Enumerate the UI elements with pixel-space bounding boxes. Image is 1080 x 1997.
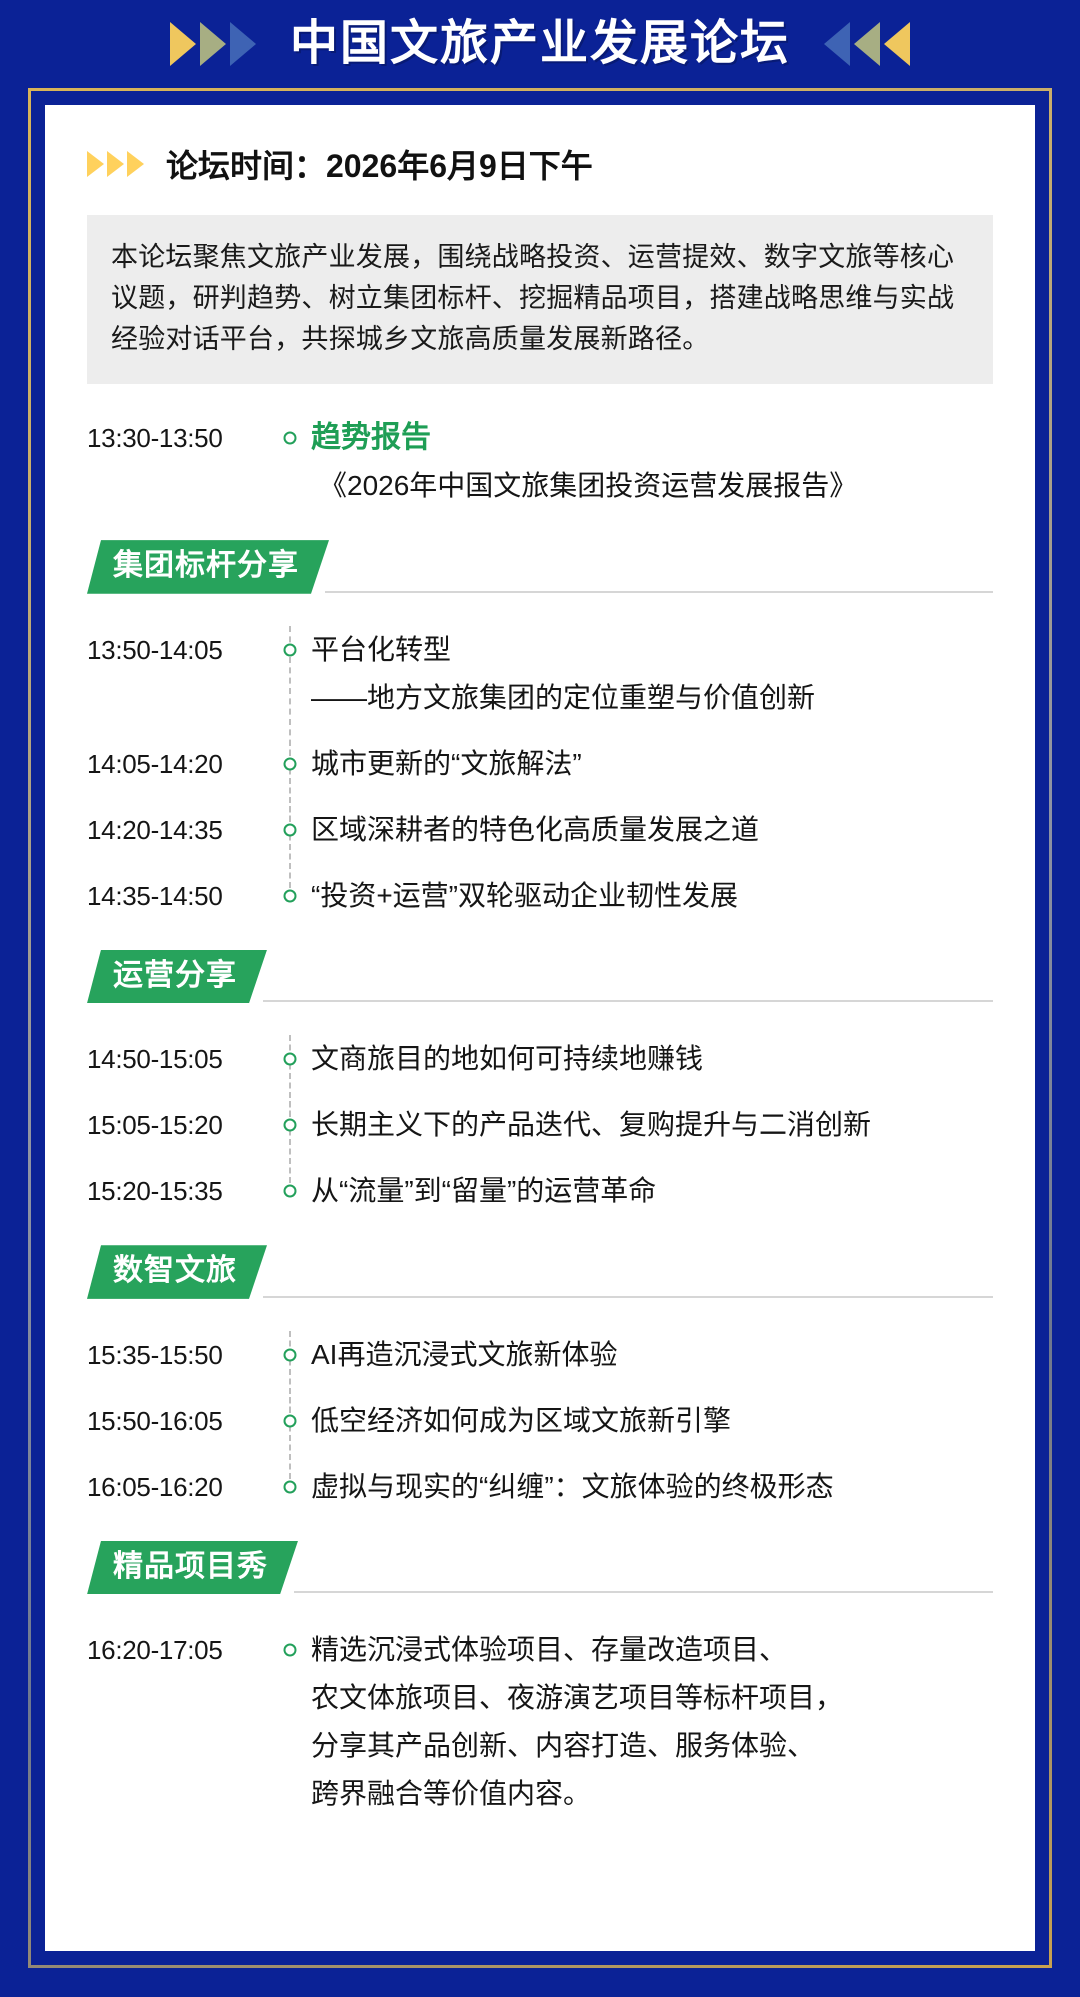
section-divider	[325, 591, 993, 593]
agenda-item-line: 平台化转型	[311, 626, 993, 674]
circle-marker-icon	[284, 1185, 297, 1198]
agenda-item-time: 15:05-15:20	[87, 1101, 273, 1149]
circle-marker-icon	[284, 1348, 297, 1361]
section-divider	[263, 1296, 993, 1298]
agenda-item-time: 14:20-14:35	[87, 806, 273, 854]
agenda-card: 论坛时间：2026年6月9日下午 本论坛聚焦文旅产业发展，围绕战略投资、运营提效…	[45, 105, 1035, 1951]
agenda-item-body: “投资+运营”双轮驱动企业韧性发展	[307, 872, 993, 920]
page-header: 中国文旅产业发展论坛	[0, 0, 1080, 88]
agenda-row: 15:20-15:35从“流量”到“留量”的运营革命	[87, 1167, 993, 1215]
triangle-left-icon	[824, 22, 850, 66]
triangle-right-icon	[127, 151, 144, 177]
circle-marker-icon	[284, 1119, 297, 1132]
agenda-item-time: 14:50-15:05	[87, 1035, 273, 1083]
spacer	[87, 722, 993, 740]
agenda-item-time: 16:05-16:20	[87, 1463, 273, 1511]
circle-marker-icon	[284, 643, 297, 656]
agenda-item-line: 跨界融合等价值内容。	[311, 1770, 993, 1818]
agenda-row: 14:50-15:05文商旅目的地如何可持续地赚钱	[87, 1035, 993, 1083]
timeline-marker	[273, 806, 307, 854]
agenda-item-line: 城市更新的“文旅解法”	[311, 740, 993, 788]
triangle-left-icon	[854, 22, 880, 66]
agenda-item-time: 14:35-14:50	[87, 872, 273, 920]
agenda-row: 14:35-14:50“投资+运营”双轮驱动企业韧性发展	[87, 872, 993, 920]
circle-marker-icon	[284, 1480, 297, 1493]
spacer	[87, 1149, 993, 1167]
triangle-right-icon	[170, 22, 196, 66]
triangle-left-icon	[884, 22, 910, 66]
agenda-item-line: ——地方文旅集团的定位重塑与价值创新	[311, 674, 993, 722]
circle-marker-icon	[284, 889, 297, 902]
agenda-row: 15:50-16:05低空经济如何成为区域文旅新引擎	[87, 1397, 993, 1445]
agenda-item-line: 农文体旅项目、夜游演艺项目等标杆项目，	[311, 1674, 993, 1722]
agenda-item-line: 虚拟与现实的“纠缠”：文旅体验的终极形态	[311, 1463, 993, 1511]
forum-time-heading: 论坛时间：2026年6月9日下午	[87, 141, 993, 187]
spacer	[87, 788, 993, 806]
agenda-row: 13:50-14:05平台化转型——地方文旅集团的定位重塑与价值创新	[87, 626, 993, 722]
timeline-marker	[273, 1397, 307, 1445]
section-title-ribbon: 精品项目秀	[87, 1541, 298, 1595]
agenda-item-time: 15:35-15:50	[87, 1331, 273, 1379]
agenda-item-time: 13:30-13:50	[87, 414, 273, 462]
timeline-dotted-connector	[289, 1101, 291, 1183]
section-title-ribbon: 数智文旅	[87, 1245, 267, 1299]
agenda-item-body: 长期主义下的产品迭代、复购提升与二消创新	[307, 1101, 993, 1149]
agenda-item-label: 趋势报告	[311, 421, 431, 454]
section-header: 运营分享	[87, 950, 993, 1004]
triangle-right-icon	[87, 151, 104, 177]
agenda-row: 14:20-14:35区域深耕者的特色化高质量发展之道	[87, 806, 993, 854]
spacer	[87, 1608, 993, 1626]
section-header: 集团标杆分享	[87, 540, 993, 594]
spacer	[87, 1083, 993, 1101]
agenda-row: 14:05-14:20城市更新的“文旅解法”	[87, 740, 993, 788]
timeline-marker	[273, 1626, 307, 1818]
triangle-right-icon	[200, 22, 226, 66]
forum-time-text: 论坛时间：2026年6月9日下午	[166, 141, 593, 187]
agenda-report-name: 《2026年中国文旅集团投资运营发展报告》	[311, 462, 993, 510]
section-divider	[263, 1000, 993, 1002]
section-title-ribbon: 运营分享	[87, 950, 267, 1004]
section-header: 数智文旅	[87, 1245, 993, 1299]
agenda-item-body: 低空经济如何成为区域文旅新引擎	[307, 1397, 993, 1445]
decorative-gold-frame: 论坛时间：2026年6月9日下午 本论坛聚焦文旅产业发展，围绕战略投资、运营提效…	[28, 88, 1052, 1968]
agenda-item-line: 文商旅目的地如何可持续地赚钱	[311, 1035, 993, 1083]
forum-intro-paragraph: 本论坛聚焦文旅产业发展，围绕战略投资、运营提效、数字文旅等核心议题，研判趋势、树…	[87, 215, 993, 384]
timeline-dotted-connector	[289, 1397, 291, 1479]
header-right-arrows	[824, 22, 910, 66]
agenda-item-time: 16:20-17:05	[87, 1626, 273, 1674]
agenda-item-time: 13:50-14:05	[87, 626, 273, 674]
agenda-row: 15:05-15:20长期主义下的产品迭代、复购提升与二消创新	[87, 1101, 993, 1149]
circle-marker-icon	[284, 823, 297, 836]
circle-marker-icon	[284, 1414, 297, 1427]
timeline-marker	[273, 740, 307, 788]
timeline-marker	[273, 1331, 307, 1379]
agenda-item-body: 平台化转型——地方文旅集团的定位重塑与价值创新	[307, 626, 993, 722]
agenda-item-body: AI再造沉浸式文旅新体验	[307, 1331, 993, 1379]
timeline-marker	[273, 1035, 307, 1083]
heading-marker-arrows	[87, 151, 144, 177]
agenda-item-time: 15:20-15:35	[87, 1167, 273, 1215]
section-header: 精品项目秀	[87, 1541, 993, 1595]
circle-marker-icon	[284, 1053, 297, 1066]
spacer	[87, 1379, 993, 1397]
agenda-item-body: 城市更新的“文旅解法”	[307, 740, 993, 788]
agenda-item-line: “投资+运营”双轮驱动企业韧性发展	[311, 872, 993, 920]
agenda-item-body: 区域深耕者的特色化高质量发展之道	[307, 806, 993, 854]
agenda-item-time: 14:05-14:20	[87, 740, 273, 788]
agenda-item-line: 长期主义下的产品迭代、复购提升与二消创新	[311, 1101, 993, 1149]
agenda-item-line: 区域深耕者的特色化高质量发展之道	[311, 806, 993, 854]
agenda-row: 16:05-16:20虚拟与现实的“纠缠”：文旅体验的终极形态	[87, 1463, 993, 1511]
agenda-item-line: 从“流量”到“留量”的运营革命	[311, 1167, 993, 1215]
triangle-right-icon	[107, 151, 124, 177]
agenda-item-body: 虚拟与现实的“纠缠”：文旅体验的终极形态	[307, 1463, 993, 1511]
agenda-item-time: 15:50-16:05	[87, 1397, 273, 1445]
circle-marker-icon	[284, 757, 297, 770]
agenda-item-body: 从“流量”到“留量”的运营革命	[307, 1167, 993, 1215]
circle-marker-icon	[284, 432, 297, 445]
triangle-right-icon	[230, 22, 256, 66]
timeline-marker	[273, 626, 307, 722]
agenda-item-opening: 13:30-13:50 趋势报告 《2026年中国文旅集团投资运营发展报告》	[87, 414, 993, 510]
agenda-item-body: 文商旅目的地如何可持续地赚钱	[307, 1035, 993, 1083]
agenda-item-body: 趋势报告 《2026年中国文旅集团投资运营发展报告》	[307, 414, 993, 510]
agenda-item-line: 精选沉浸式体验项目、存量改造项目、	[311, 1626, 993, 1674]
spacer	[87, 1313, 993, 1331]
agenda-sections: 集团标杆分享13:50-14:05平台化转型——地方文旅集团的定位重塑与价值创新…	[87, 540, 993, 1818]
spacer	[87, 608, 993, 626]
spacer	[87, 1017, 993, 1035]
section-divider	[294, 1591, 993, 1593]
spacer	[87, 1445, 993, 1463]
header-left-arrows	[170, 22, 256, 66]
circle-marker-icon	[284, 1644, 297, 1657]
agenda-item-line: 分享其产品创新、内容打造、服务体验、	[311, 1722, 993, 1770]
agenda-item-line: 低空经济如何成为区域文旅新引擎	[311, 1397, 993, 1445]
timeline-marker	[273, 414, 307, 510]
agenda-row: 16:20-17:05精选沉浸式体验项目、存量改造项目、农文体旅项目、夜游演艺项…	[87, 1626, 993, 1818]
agenda-item-body: 精选沉浸式体验项目、存量改造项目、农文体旅项目、夜游演艺项目等标杆项目，分享其产…	[307, 1626, 993, 1818]
page-title: 中国文旅产业发展论坛	[290, 20, 790, 68]
spacer	[87, 854, 993, 872]
timeline-dotted-connector	[289, 806, 291, 888]
section-title-ribbon: 集团标杆分享	[87, 540, 329, 594]
timeline-marker	[273, 1101, 307, 1149]
agenda-row: 15:35-15:50AI再造沉浸式文旅新体验	[87, 1331, 993, 1379]
agenda-item-line: AI再造沉浸式文旅新体验	[311, 1331, 993, 1379]
